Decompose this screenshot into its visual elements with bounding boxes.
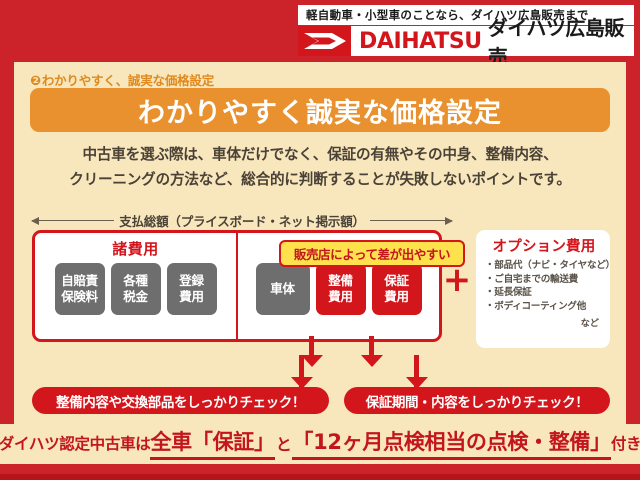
total-payment-label: 支払総額（プライスボード・ネット掲示額） <box>119 211 365 230</box>
list-item: ・部品代（ナビ・タイヤなど） <box>485 259 603 273</box>
section-number: ❷ <box>30 74 41 89</box>
option-fees-title: オプション費用 <box>485 235 603 256</box>
callout-text: 販売店によって差が出やすい <box>294 244 450 263</box>
content-panel: ❷わかりやすく、誠実な価格設定 わかりやすく誠実な価格設定 中古車を選ぶ際は、車… <box>14 62 626 424</box>
connector-warranty-arrow <box>361 355 383 367</box>
callout-balloon: 販売店によって差が出やすい <box>279 240 465 267</box>
list-item: ・ご自宅までの輸送費 <box>485 273 603 287</box>
chip-line-1: 登録 <box>179 273 203 289</box>
chip-line-1: 車体 <box>270 281 294 297</box>
footer-part-5: 付き <box>611 432 640 454</box>
option-fees-box: オプション費用 ・部品代（ナビ・タイヤなど） ・ご自宅までの輸送費 ・延長保証 … <box>476 230 610 348</box>
connector-maintenance-arrow <box>301 355 323 367</box>
misc-fees-title: 諸費用 <box>112 238 159 259</box>
chip-line-1: 保証 <box>384 273 408 289</box>
brand-name-latin: DAIHATSU <box>351 26 488 56</box>
footer-part-1: ダイハツ認定中古車は <box>0 432 150 454</box>
lead-paragraph: 中古車を選ぶ際は、車体だけでなく、保証の有無やその中身、整備内容、 クリーニング… <box>34 142 606 192</box>
chip-vehicle-body: 車体 <box>256 263 310 315</box>
chip-line-2: 税金 <box>123 289 147 305</box>
chip-line-1: 整備 <box>328 273 352 289</box>
check-banner-warranty-text: 保証期間・内容をしっかりチェック！ <box>366 391 589 411</box>
footer-part-2-warranty: 全車「保証」 <box>150 426 274 460</box>
plus-sign-icon: + <box>442 266 472 296</box>
section-title-text: わかりやすく誠実な価格設定 <box>138 91 502 130</box>
footer-part-4-inspection: 「12ヶ月点検相当の点検・整備」 <box>292 426 610 460</box>
option-fees-list: ・部品代（ナビ・タイヤなど） ・ご自宅までの輸送費 ・延長保証 ・ボディコーティ… <box>485 259 603 313</box>
chip-line-2: 費用 <box>328 289 352 305</box>
footer-part-3: と <box>275 431 293 455</box>
section-title-banner: わかりやすく誠実な価格設定 <box>30 88 610 132</box>
chip-line-2: 費用 <box>384 289 408 305</box>
misc-fees-box: 諸費用 自賠責 保険料 各種 税金 登録 費用 <box>35 233 238 339</box>
chip-warranty-fee: 保証 費用 <box>372 263 422 315</box>
chip-line-2: 費用 <box>179 289 203 305</box>
page-header: 軽自動車・小型車のことなら、ダイハツ広島販売まで DAIHATSU ダイハツ広島… <box>0 0 640 62</box>
list-item: ・ボディコーティング他 <box>485 300 603 314</box>
brand-name-jp: ダイハツ広島販売 <box>488 26 634 56</box>
footer-statement: ダイハツ認定中古車は 全車「保証」 と 「12ヶ月点検相当の点検・整備」 付き <box>0 424 640 462</box>
lead-line-2: クリーニングの方法など、総合的に判断することが失敗しないポイントです。 <box>34 167 606 192</box>
total-payment-arrow: 支払総額（プライスボード・ネット掲示額） <box>32 210 452 230</box>
vehicle-price-chips: 車体 整備 費用 保証 費用 <box>256 263 422 315</box>
brand-logo-row: DAIHATSU ダイハツ広島販売 <box>298 26 634 56</box>
option-fees-note: など <box>485 315 603 329</box>
chip-taxes: 各種 税金 <box>111 263 161 315</box>
check-banner-warranty: 保証期間・内容をしっかりチェック！ <box>344 387 610 414</box>
section-label: ❷わかりやすく、誠実な価格設定 <box>30 70 214 89</box>
chip-maintenance-fee: 整備 費用 <box>316 263 366 315</box>
chip-line-1: 各種 <box>123 273 147 289</box>
lead-line-1: 中古車を選ぶ際は、車体だけでなく、保証の有無やその中身、整備内容、 <box>34 142 606 167</box>
chip-line-1: 自賠責 <box>61 273 98 289</box>
check-banner-maintenance-text: 整備内容や交換部品をしっかりチェック！ <box>56 391 305 411</box>
section-label-text: わかりやすく、誠実な価格設定 <box>42 73 214 88</box>
chip-compulsory-insurance: 自賠責 保険料 <box>55 263 105 315</box>
arrow-right <box>370 220 452 221</box>
list-item: ・延長保証 <box>485 286 603 300</box>
misc-fees-chips: 自賠責 保険料 各種 税金 登録 費用 <box>55 263 217 315</box>
check-banner-maintenance: 整備内容や交換部品をしっかりチェック！ <box>32 387 329 414</box>
dealer-logo-block: 軽自動車・小型車のことなら、ダイハツ広島販売まで DAIHATSU ダイハツ広島… <box>298 5 634 56</box>
chip-registration-fee: 登録 費用 <box>167 263 217 315</box>
footer-bottom-edge <box>0 474 640 480</box>
infographic-page: 軽自動車・小型車のことなら、ダイハツ広島販売まで DAIHATSU ダイハツ広島… <box>0 0 640 480</box>
arrow-left <box>32 220 114 221</box>
page-footer: ダイハツ認定中古車は 全車「保証」 と 「12ヶ月点検相当の点検・整備」 付き <box>0 424 640 480</box>
chip-line-2: 保険料 <box>61 289 98 305</box>
daihatsu-d-mark-icon <box>298 26 351 56</box>
